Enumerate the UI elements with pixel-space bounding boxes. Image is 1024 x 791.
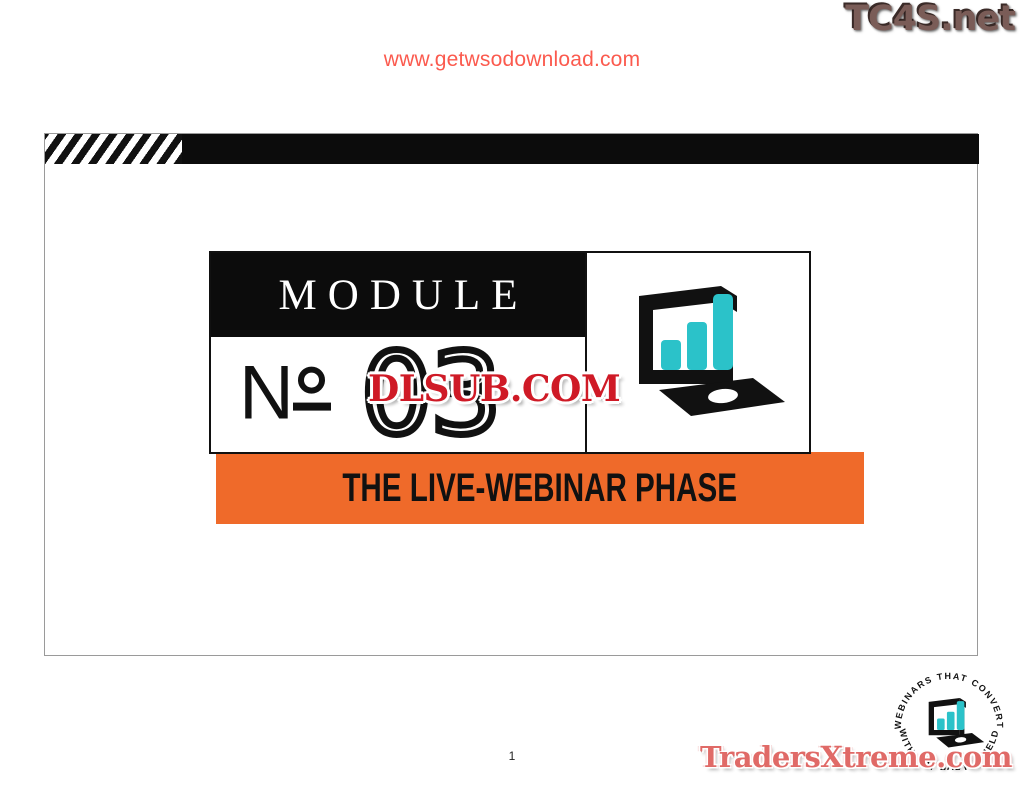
numero-sign: N — [239, 362, 331, 424]
slide-top-bar — [45, 134, 979, 164]
numero-ordinal-mark — [298, 366, 331, 410]
tc4s-watermark: TC4S.net — [844, 0, 1014, 38]
numero-underbar — [293, 402, 331, 410]
laptop-bar-chart-icon — [603, 278, 793, 428]
dlsub-watermark: DLSUB.COM — [368, 368, 620, 410]
tradersxtreme-watermark: TradersXtreme.com — [700, 740, 1012, 774]
phase-title: THE LIVE-WEBINAR PHASE — [343, 466, 738, 511]
module-word-label: MODULE — [268, 271, 529, 320]
source-url-watermark: www.getwsodownload.com — [0, 48, 1024, 72]
numero-ring — [298, 366, 325, 393]
numero-letter: N — [239, 362, 294, 424]
solid-black-bar — [182, 134, 979, 164]
module-card-right — [587, 253, 809, 452]
module-card: MODULE N 03 — [209, 251, 811, 454]
module-word-band: MODULE — [211, 253, 585, 337]
phase-banner: THE LIVE-WEBINAR PHASE — [216, 452, 864, 524]
diagonal-stripe-block — [45, 134, 182, 164]
module-card-left: MODULE N 03 — [211, 253, 587, 452]
